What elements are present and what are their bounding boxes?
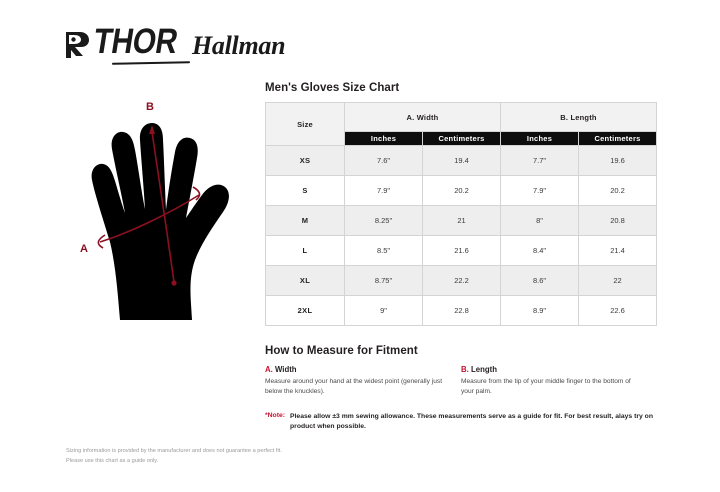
cell-width-centimeters: 22.2 [423, 266, 501, 296]
hand-diagram-svg: B A [62, 92, 262, 332]
how-to-width-name: Width [275, 365, 297, 374]
how-to-measure-width: A. Width Measure around your hand at the… [265, 365, 461, 396]
table-head: Size A. Width B. Length Inches Centimete… [266, 103, 657, 146]
column-header-size: Size [266, 103, 345, 146]
how-to-length-heading: B. Length [461, 365, 645, 374]
cell-width-inches: 9" [345, 296, 423, 326]
table-row: XL 8.75" 22.2 8.6" 22 [266, 266, 657, 296]
how-to-width-letter: A. [265, 365, 273, 374]
cell-width-centimeters: 21 [423, 206, 501, 236]
cell-width-inches: 8.75" [345, 266, 423, 296]
cell-width-inches: 7.9" [345, 176, 423, 206]
size-chart-panel: Men's Gloves Size Chart Size A. Width B.… [265, 82, 657, 432]
how-to-measure-columns: A. Width Measure around your hand at the… [265, 365, 657, 396]
cell-length-centimeters: 20.8 [579, 206, 657, 236]
table-body: XS 7.6" 19.4 7.7" 19.6 S 7.9" 20.2 7.9" … [266, 146, 657, 326]
how-to-measure-section: How to Measure for Fitment A. Width Meas… [265, 345, 657, 396]
cell-length-centimeters: 22 [579, 266, 657, 296]
footer-disclaimer: Sizing information is provided by the ma… [66, 447, 282, 466]
table-row: L 8.5" 21.6 8.4" 21.4 [266, 236, 657, 266]
cell-length-centimeters: 21.4 [579, 236, 657, 266]
cell-length-inches: 7.7" [501, 146, 579, 176]
cell-size: L [266, 236, 345, 266]
cell-length-inches: 7.9" [501, 176, 579, 206]
cell-width-inches: 8.5" [345, 236, 423, 266]
cell-width-centimeters: 22.8 [423, 296, 501, 326]
how-to-measure-length: B. Length Measure from the tip of your m… [461, 365, 657, 396]
cell-length-centimeters: 19.6 [579, 146, 657, 176]
cell-size: XS [266, 146, 345, 176]
size-chart-table: Size A. Width B. Length Inches Centimete… [265, 102, 657, 326]
cell-length-inches: 8.6" [501, 266, 579, 296]
cell-width-inches: 7.6" [345, 146, 423, 176]
cell-size: M [266, 206, 345, 236]
footer-line-1: Sizing information is provided by the ma… [66, 447, 282, 457]
cell-length-centimeters: 20.2 [579, 176, 657, 206]
table-row: XS 7.6" 19.4 7.7" 19.6 [266, 146, 657, 176]
column-header-width-inches: Inches [345, 132, 423, 146]
how-to-length-letter: B. [461, 365, 469, 374]
how-to-length-body: Measure from the tip of your middle fing… [461, 377, 645, 396]
cell-length-inches: 8" [501, 206, 579, 236]
column-header-length-centimeters: Centimeters [579, 132, 657, 146]
cell-length-inches: 8.4" [501, 236, 579, 266]
how-to-width-body: Measure around your hand at the widest p… [265, 377, 449, 396]
footer-line-2: Please use this chart as a guide only. [66, 457, 282, 467]
column-header-width-centimeters: Centimeters [423, 132, 501, 146]
column-group-length: B. Length [501, 103, 657, 132]
cell-width-inches: 8.25" [345, 206, 423, 236]
cell-size: XL [266, 266, 345, 296]
diagram-label-b: B [146, 101, 154, 113]
thor-wordmark: THOR [91, 25, 180, 60]
cell-length-inches: 8.9" [501, 296, 579, 326]
cell-width-centimeters: 20.2 [423, 176, 501, 206]
table-row: M 8.25" 21 8" 20.8 [266, 206, 657, 236]
how-to-measure-title: How to Measure for Fitment [265, 345, 657, 357]
cell-length-centimeters: 22.6 [579, 296, 657, 326]
cell-size: 2XL [266, 296, 345, 326]
hand-measurement-diagram: B A [62, 92, 262, 332]
table-head-row-groups: Size A. Width B. Length [266, 103, 657, 132]
column-group-width: A. Width [345, 103, 501, 132]
chart-title: Men's Gloves Size Chart [265, 82, 657, 94]
cell-size: S [266, 176, 345, 206]
note-text: Please allow ±3 mm sewing allowance. The… [290, 412, 657, 432]
cell-width-centimeters: 21.6 [423, 236, 501, 266]
length-measure-endpoint [171, 280, 176, 285]
how-to-length-name: Length [471, 365, 497, 374]
hallman-underline-flourish [112, 61, 190, 65]
diagram-label-a: A [80, 243, 88, 255]
cell-width-centimeters: 19.4 [423, 146, 501, 176]
note-label: *Note: [265, 412, 285, 419]
hand-silhouette [92, 123, 229, 320]
hallman-wordmark: Hallman [192, 33, 285, 59]
note-block: *Note: Please allow ±3 mm sewing allowan… [265, 412, 657, 432]
thor-logo: THOR [64, 30, 174, 60]
table-row: S 7.9" 20.2 7.9" 20.2 [266, 176, 657, 206]
how-to-width-heading: A. Width [265, 365, 449, 374]
table-row: 2XL 9" 22.8 8.9" 22.6 [266, 296, 657, 326]
column-header-length-inches: Inches [501, 132, 579, 146]
brand-logo-row: THOR Hallman [64, 30, 285, 60]
thor-hammer-emblem-icon [64, 30, 90, 60]
